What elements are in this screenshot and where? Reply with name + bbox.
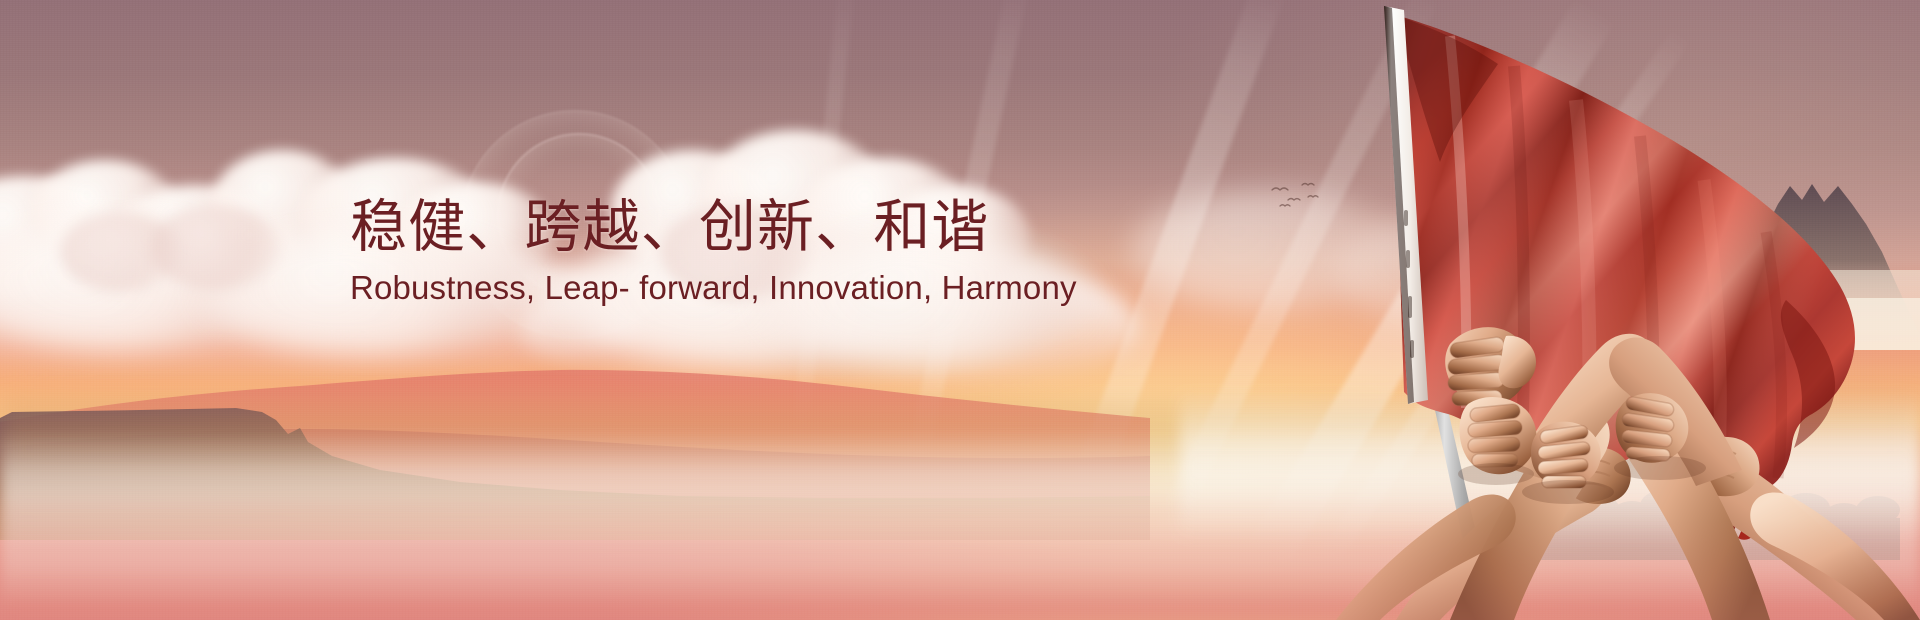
mesa-silhouette	[0, 330, 1150, 540]
slogan-block: 稳健、跨越、创新、和谐 Robustness, Leap- forward, I…	[350, 196, 1077, 307]
page-subtitle: Robustness, Leap- forward, Innovation, H…	[350, 269, 1077, 307]
hero-banner: 稳健、跨越、创新、和谐 Robustness, Leap- forward, I…	[0, 0, 1920, 620]
flag-and-hands	[1300, 0, 1920, 620]
page-title: 稳健、跨越、创新、和谐	[350, 196, 1077, 260]
